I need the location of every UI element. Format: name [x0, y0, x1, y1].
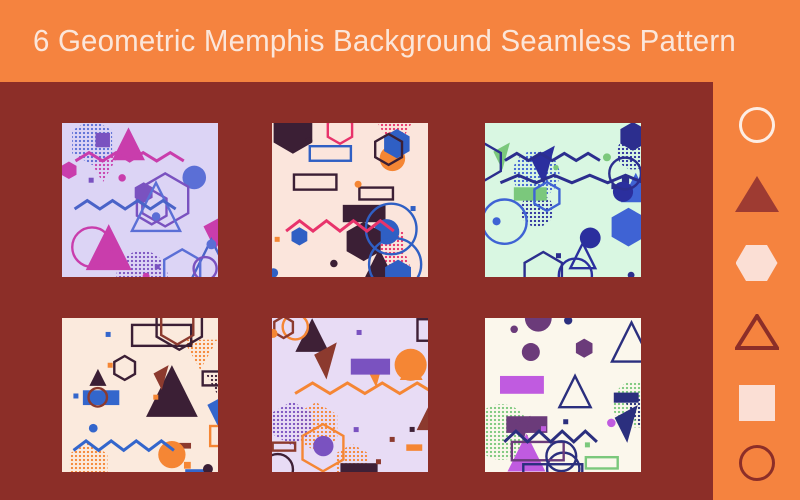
pattern-tile-2[interactable]: [272, 123, 428, 277]
triangle-filled-icon: [735, 176, 779, 212]
triangle-outline-icon: [735, 314, 779, 350]
pattern-tile-1[interactable]: [62, 123, 218, 277]
sidebar-item-triangle-filled[interactable]: [713, 171, 800, 217]
shape-sidebar: [713, 82, 800, 500]
header-banner: 6 Geometric Memphis Background Seamless …: [0, 0, 800, 82]
poster-canvas: 6 Geometric Memphis Background Seamless …: [0, 0, 800, 500]
circle-outline-icon: [739, 107, 775, 143]
sidebar-item-triangle-outline[interactable]: [713, 309, 800, 355]
pattern-tile-6[interactable]: [485, 318, 641, 472]
sidebar-item-hexagon-filled[interactable]: [713, 240, 800, 286]
sidebar-item-circle-outline-dark[interactable]: [713, 440, 800, 486]
page-title: 6 Geometric Memphis Background Seamless …: [33, 16, 736, 66]
pattern-tile-4[interactable]: [62, 318, 218, 472]
hexagon-filled-icon: [736, 245, 778, 281]
sidebar-item-square-filled[interactable]: [713, 380, 800, 426]
circle-outline-icon: [739, 445, 775, 481]
pattern-tile-3[interactable]: [485, 123, 641, 277]
sidebar-item-circle-outline-light[interactable]: [713, 102, 800, 148]
square-filled-icon: [739, 385, 775, 421]
pattern-tile-5[interactable]: [272, 318, 428, 472]
